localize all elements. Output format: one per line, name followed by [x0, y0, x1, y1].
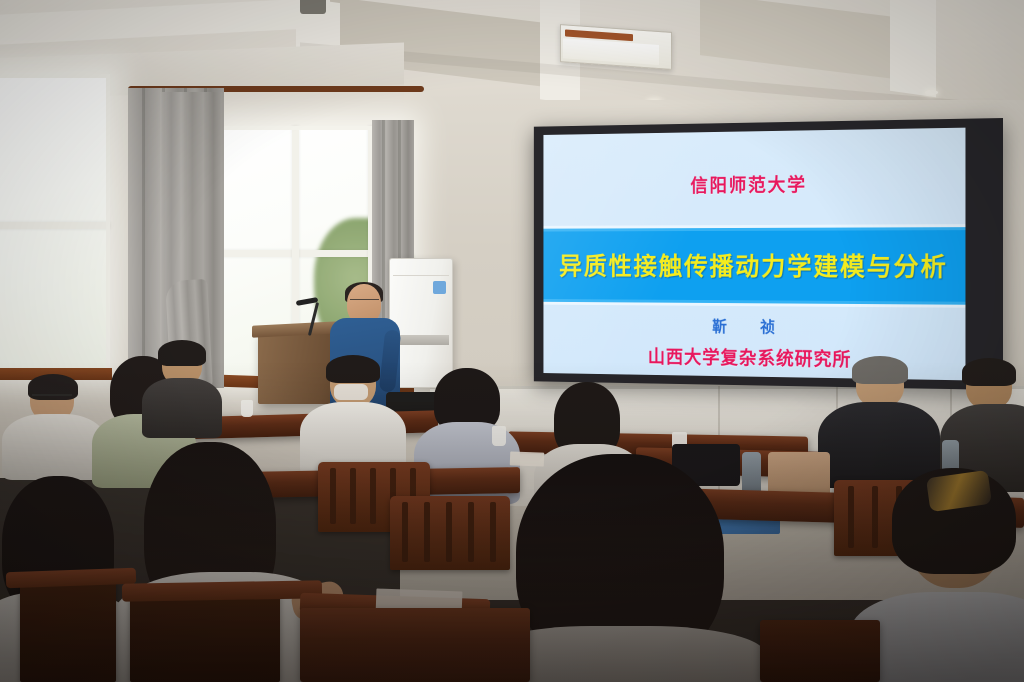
water-cup-1	[241, 400, 253, 417]
ceiling-beam-c	[890, 0, 936, 97]
water-cup-2	[492, 426, 506, 446]
face-mask-icon	[334, 384, 368, 400]
ceiling-recess-right	[700, 0, 910, 81]
hair	[158, 340, 206, 366]
paper-handout-2	[510, 451, 544, 466]
window-frame-left	[0, 74, 110, 374]
hair	[326, 355, 380, 383]
bench-desk-front	[300, 608, 530, 682]
projector-mount-icon	[300, 0, 326, 14]
slide-header-zone: 信阳师范大学	[543, 128, 965, 226]
bench-desk-front-right	[760, 620, 880, 682]
slide-university-name: 信阳师范大学	[690, 170, 807, 197]
hair	[852, 356, 908, 384]
torso	[2, 414, 106, 480]
screen-display-area: 信阳师范大学 异质性接触传播动力学建模与分析 靳 祯 山西大学复杂系统研究所	[543, 128, 965, 381]
glasses-icon	[350, 299, 379, 306]
slide-presenter-name: 靳 祯	[712, 313, 784, 337]
title-slide: 信阳师范大学 异质性接触传播动力学建模与分析 靳 祯 山西大学复杂系统研究所	[543, 128, 965, 381]
ac-seam	[393, 275, 449, 276]
ceiling-beam-left	[0, 0, 330, 45]
audience-man-dark-polo	[146, 344, 218, 432]
downlight-icon-3	[925, 90, 938, 95]
slide-title-band: 异质性接触传播动力学建模与分析	[543, 224, 965, 308]
ac-badge-icon	[433, 281, 446, 294]
chair-back-front-1	[20, 576, 116, 682]
chair-back-front-2	[130, 590, 280, 682]
window-left	[0, 74, 110, 374]
hair	[962, 358, 1016, 386]
lecture-hall-photo: 信阳师范大学 异质性接触传播动力学建模与分析 靳 祯 山西大学复杂系统研究所	[0, 0, 1024, 682]
torso	[142, 378, 222, 438]
audience-man-glasses	[8, 378, 100, 468]
presentation-screen[interactable]: 信阳师范大学 异质性接触传播动力学建模与分析 靳 祯 山西大学复杂系统研究所	[534, 118, 1003, 390]
chair-rail-front-2	[122, 580, 322, 601]
light-panel	[563, 38, 659, 65]
ceiling-light-icon	[560, 24, 672, 70]
glasses-icon	[32, 394, 72, 404]
slide-main-title: 异质性接触传播动力学建模与分析	[559, 247, 948, 284]
ac-vent-grill	[393, 335, 449, 345]
audience-woman-hairclip-right	[862, 468, 1024, 682]
audience-man-black-shirt	[818, 362, 940, 482]
audience-man-far-right	[948, 364, 1024, 484]
